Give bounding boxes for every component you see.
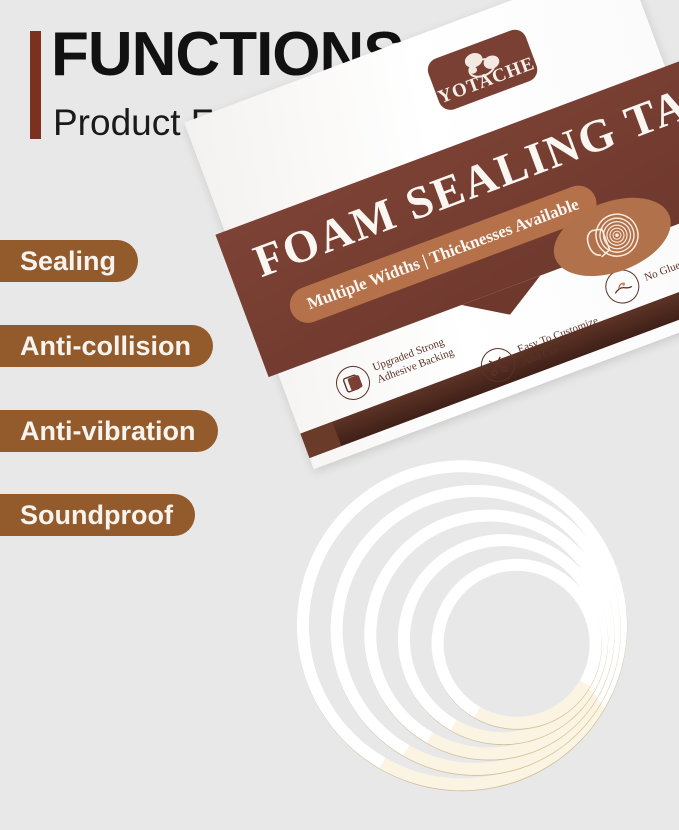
tape-coil-ring — [412, 540, 620, 748]
box-side-panel — [300, 269, 679, 458]
feature-pill-anti-vibration: Anti-vibration — [0, 410, 218, 452]
brand-name: YOTACHE — [435, 53, 538, 109]
foam-tape-coil — [239, 359, 679, 760]
scissors-icon — [476, 343, 520, 387]
title-accent-bar — [30, 31, 41, 139]
tape-roll-emblem — [543, 183, 679, 291]
page-title: FUNCTIONS — [51, 19, 404, 90]
product-banner-label: Multiple Widths | Thicknesses Available — [304, 194, 581, 314]
tape-roll-icon — [567, 197, 657, 277]
feature-pill-label: Anti-vibration — [20, 416, 196, 447]
feature-pill-label: Sealing — [20, 246, 116, 277]
adhesive-pad-icon — [331, 361, 375, 405]
box-feature-cut: Easy To Customize And Cut — [476, 307, 616, 387]
brand-emblem-icon — [446, 39, 515, 89]
feature-pill-label: Soundproof — [20, 500, 173, 531]
product-banner: Multiple Widths | Thicknesses Available — [285, 181, 602, 328]
page-header: FUNCTIONS Product Features — [0, 26, 420, 141]
brand-badge: YOTACHE — [424, 26, 540, 113]
page-subtitle: Product Features — [53, 102, 337, 144]
tape-coil-ring — [298, 452, 653, 807]
tape-coil-ring — [374, 511, 631, 768]
no-residue-icon — [600, 265, 644, 309]
box-corner-flap — [300, 422, 341, 458]
feature-pill-label: Anti-collision — [20, 331, 191, 362]
tape-coil-ring — [260, 423, 664, 827]
box-feature-label: Easy To Customize And Cut — [516, 311, 615, 368]
box-feature-no-residue: No Glue Residue — [600, 236, 679, 309]
feature-pill-soundproof: Soundproof — [0, 494, 195, 536]
tape-coil-ring — [336, 481, 642, 787]
box-feature-label: No Glue Residue — [643, 246, 679, 284]
panel-notch — [462, 276, 550, 330]
feature-pill-sealing: Sealing — [0, 240, 138, 282]
box-feature-label: Upgraded Strong Adhesive Backing — [371, 329, 470, 386]
box-feature-adhesive: Upgraded Strong Adhesive Backing — [331, 325, 471, 405]
feature-pill-anti-collision: Anti-collision — [0, 325, 213, 367]
